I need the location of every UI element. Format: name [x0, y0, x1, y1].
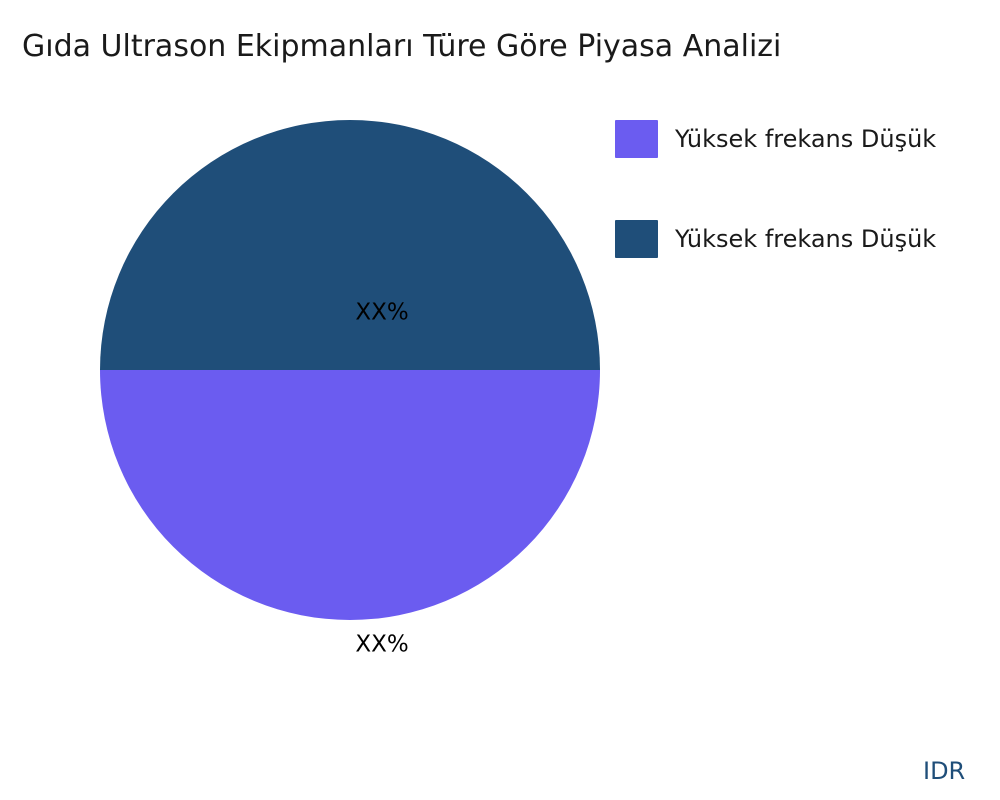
- legend-item-1[interactable]: Yüksek frekans Düşük: [615, 220, 1000, 320]
- legend-item-label-0: Yüksek frekans Düşük: [675, 120, 936, 158]
- pie-slice-label-upper: XX%: [355, 302, 408, 325]
- pie-slice-label-lower: XX%: [355, 634, 408, 657]
- legend-item-0[interactable]: Yüksek frekans Düşük: [615, 120, 1000, 220]
- chart-legend: Yüksek frekans Düşük Yüksek frekans Düşü…: [615, 120, 1000, 320]
- chart-title: Gıda Ultrason Ekipmanları Türe Göre Piya…: [22, 28, 781, 66]
- pie-chart-plot-area: XX% XX%: [100, 120, 600, 620]
- pie-slice-yuksek-frekans-dusuk-2[interactable]: [100, 120, 600, 370]
- watermark-idr: IDR: [923, 757, 965, 785]
- legend-color-swatch-dark-blue: [615, 220, 658, 258]
- pie-slice-yuksek-frekans-dusuk-1[interactable]: [100, 370, 600, 620]
- pie-chart-svg: [100, 120, 600, 620]
- legend-item-label-1: Yüksek frekans Düşük: [675, 220, 936, 258]
- legend-color-swatch-purple: [615, 120, 658, 158]
